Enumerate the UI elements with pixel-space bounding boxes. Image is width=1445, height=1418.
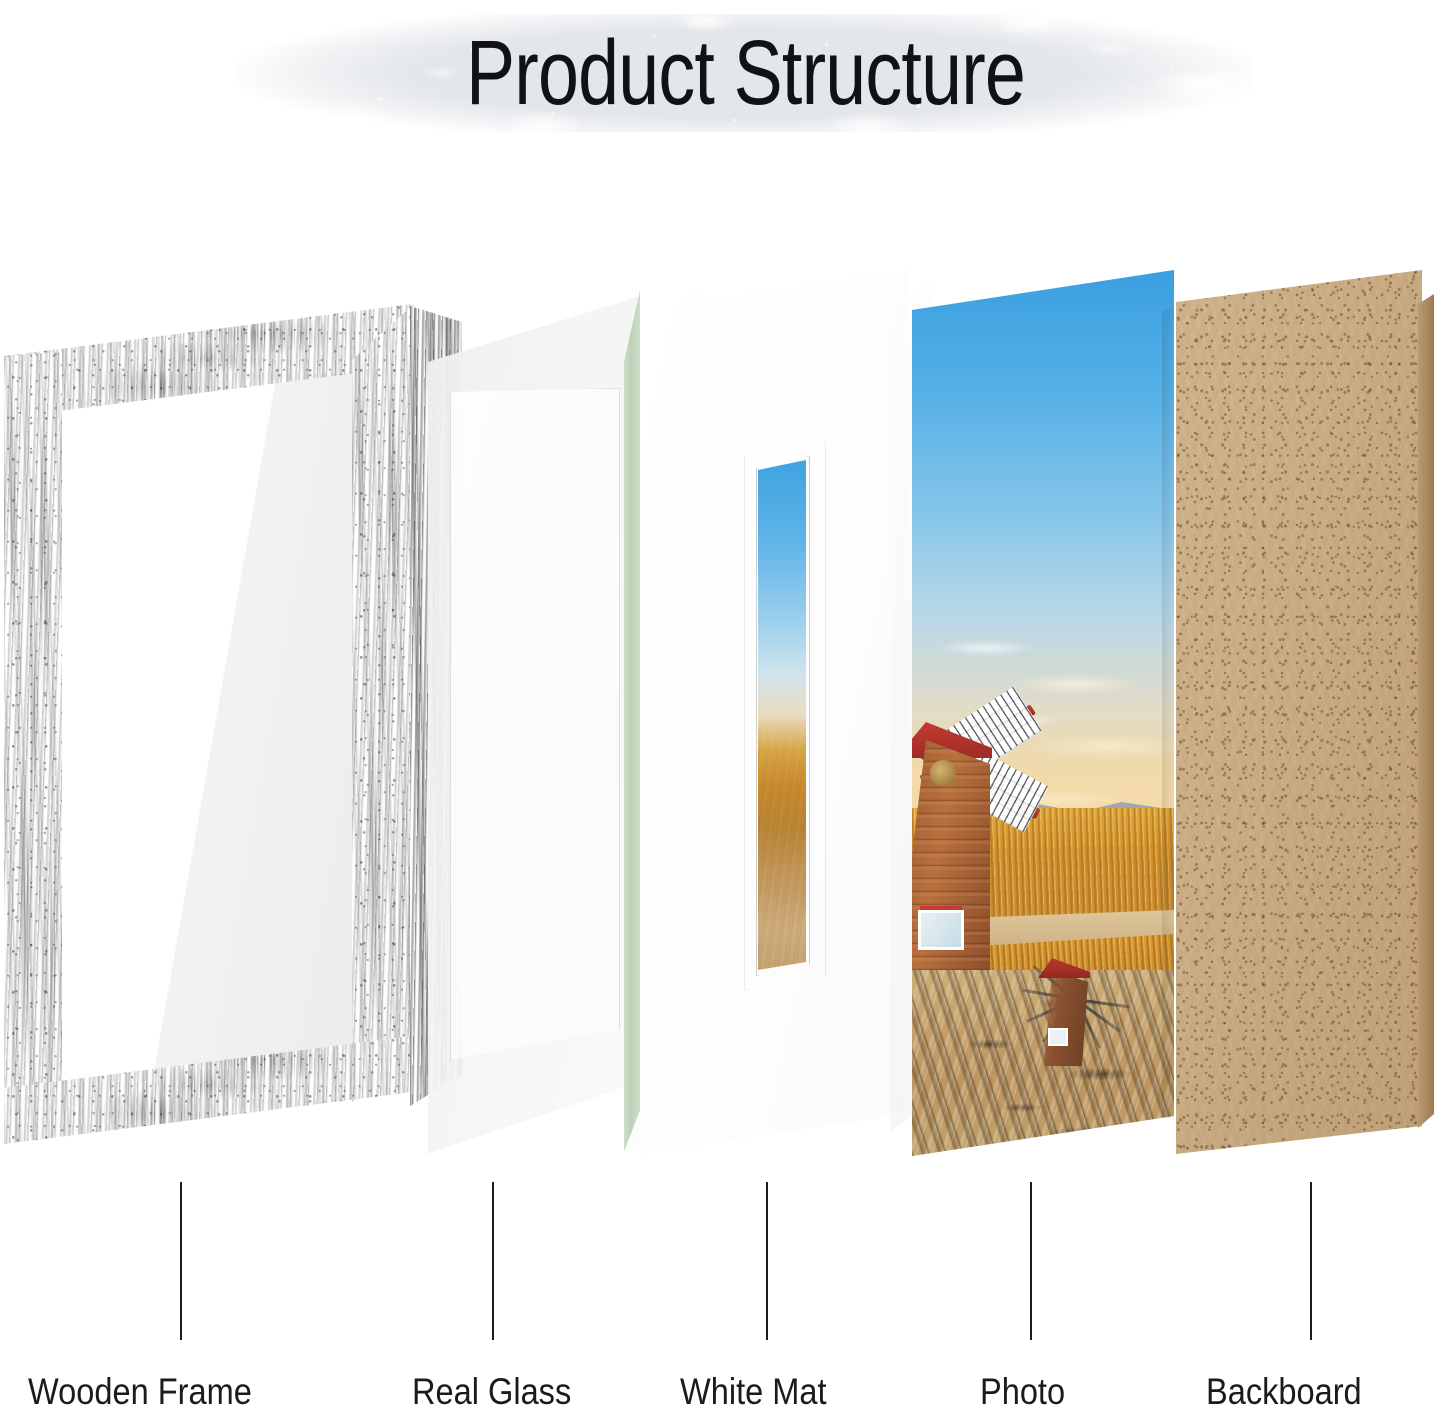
caption-backboard: Backboard (1206, 1372, 1362, 1412)
caption-photo: Photo (980, 1372, 1065, 1412)
page-title: Product Structure (340, 19, 1152, 127)
photo-windmill-secondary-window (1048, 1028, 1068, 1046)
fiberboard-texture (1176, 270, 1422, 1154)
layer-backboard (1176, 270, 1445, 1170)
frame-rail-left (4, 352, 62, 1142)
wood-distress-texture (352, 304, 414, 1104)
leader-line-white-mat (766, 1182, 768, 1340)
glass-green-edge (624, 290, 640, 1152)
layer-photo (912, 270, 1182, 1170)
photo-edge-shadow (1162, 270, 1174, 1156)
leader-line-backboard (1310, 1182, 1312, 1340)
leader-line-photo (1030, 1182, 1032, 1340)
backboard-face (1176, 270, 1422, 1154)
exploded-view-diagram (0, 270, 1445, 1190)
glass-reflection-outline (450, 388, 620, 1060)
backboard-edge-thickness (1418, 270, 1434, 1156)
wood-distress-texture (4, 352, 62, 1142)
photo-strip-grain (758, 460, 806, 970)
leader-line-real-glass (492, 1182, 494, 1340)
layer-wooden-frame (0, 270, 470, 1170)
title-banner: Product Structure (238, 14, 1253, 132)
photo-print (912, 270, 1174, 1156)
layer-white-mat (640, 270, 930, 1170)
mat-cutout-window (758, 460, 806, 970)
frame-rail-right (352, 304, 414, 1104)
photo-visible-through-mat (758, 460, 806, 970)
caption-real-glass: Real Glass (412, 1372, 571, 1412)
caption-white-mat: White Mat (680, 1372, 827, 1412)
photo-windmill-hub (930, 760, 956, 786)
caption-wooden-frame: Wooden Frame (28, 1372, 252, 1412)
photo-windmill-window (918, 910, 964, 950)
leader-line-wooden-frame (180, 1182, 182, 1340)
frame-opening (56, 362, 356, 1086)
